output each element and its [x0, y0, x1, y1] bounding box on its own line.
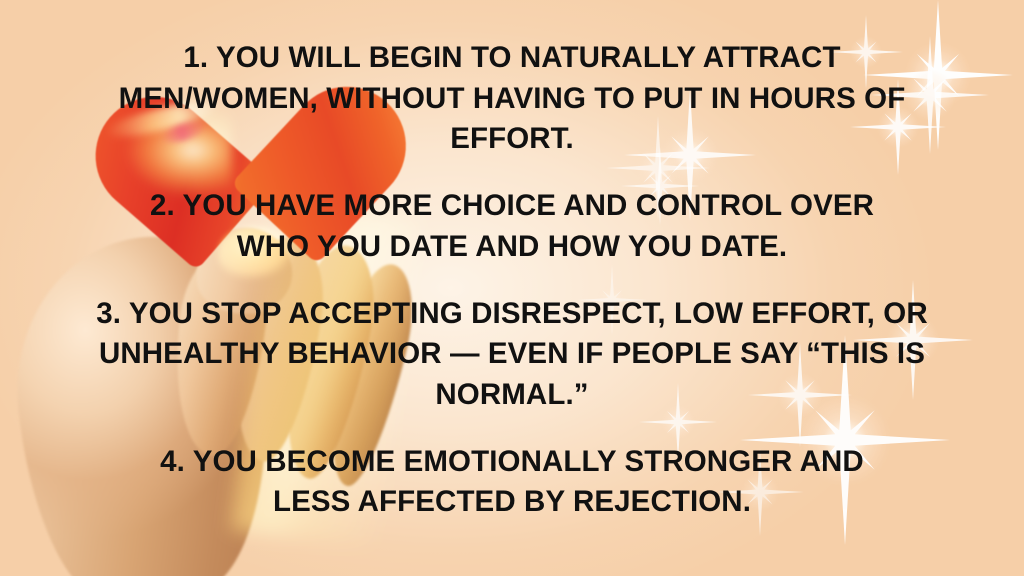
quote-item-3: 3. YOU STOP ACCEPTING DISRESPECT, LOW EF… — [0, 294, 1024, 416]
quote-poster: 1. YOU WILL BEGIN TO NATURALLY ATTRACT M… — [0, 0, 1024, 576]
quote-item-2: 2. YOU HAVE MORE CHOICE AND CONTROL OVER… — [0, 186, 1024, 267]
quote-item-4: 4. YOU BECOME EMOTIONALLY STRONGER AND L… — [0, 442, 1024, 523]
quote-text-block: 1. YOU WILL BEGIN TO NATURALLY ATTRACT M… — [0, 0, 1024, 576]
quote-item-1: 1. YOU WILL BEGIN TO NATURALLY ATTRACT M… — [0, 38, 1024, 160]
